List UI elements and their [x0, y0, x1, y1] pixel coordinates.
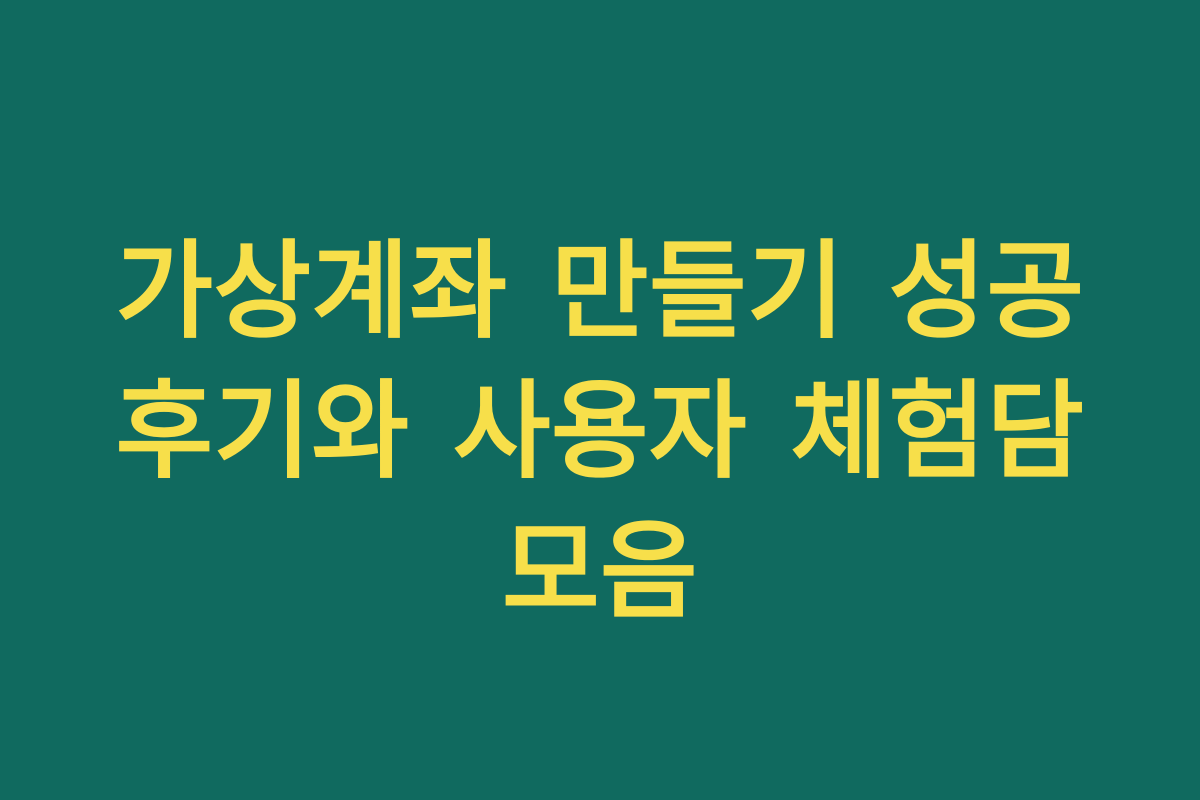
- page-title: 가상계좌 만들기 성공 후기와 사용자 체험담 모음: [100, 222, 1100, 642]
- title-card: 가상계좌 만들기 성공 후기와 사용자 체험담 모음: [0, 0, 1200, 800]
- title-line-1: 가상계좌 만들기 성공: [100, 222, 1100, 362]
- title-line-2: 후기와 사용자 체험담: [100, 362, 1100, 502]
- title-line-3: 모음: [100, 502, 1100, 642]
- title-wrapper: 가상계좌 만들기 성공 후기와 사용자 체험담 모음: [0, 222, 1200, 642]
